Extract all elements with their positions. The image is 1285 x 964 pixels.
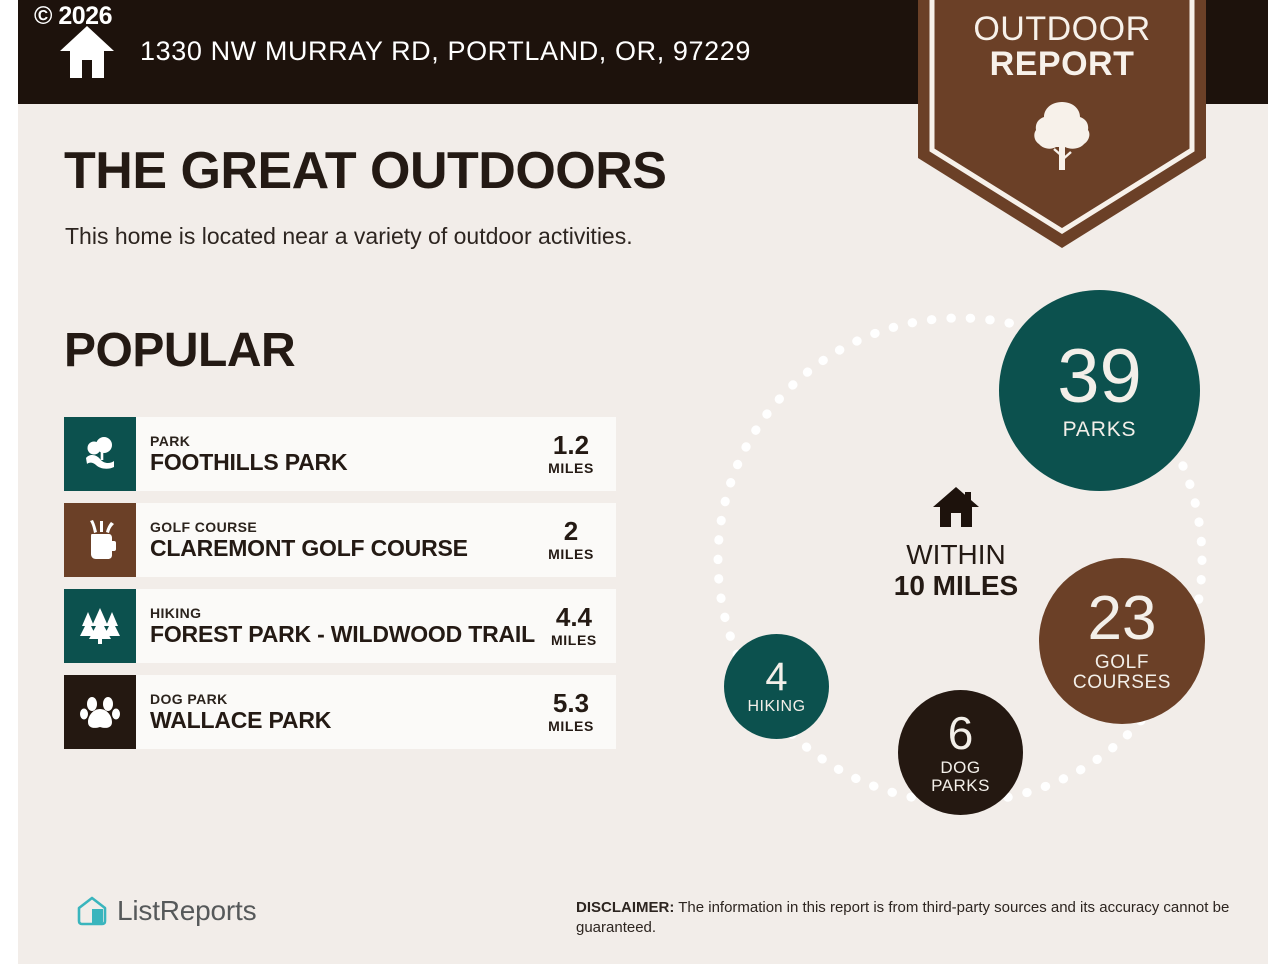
distance-unit: MILES	[535, 632, 613, 648]
list-item[interactable]: GOLF COURSE CLAREMONT GOLF COURSE 2 MILE…	[64, 503, 616, 577]
bubble-dog-parks[interactable]: 6 DOG PARKS	[898, 690, 1023, 815]
list-item-name: FOOTHILLS PARK	[150, 450, 532, 475]
property-address: 1330 NW MURRAY RD, PORTLAND, OR, 97229	[140, 36, 751, 67]
list-item[interactable]: HIKING FOREST PARK - WILDWOOD TRAIL 4.4 …	[64, 589, 616, 663]
list-item-icon-tile	[64, 417, 136, 491]
bubble-value: 6	[948, 711, 974, 756]
bubble-golf-courses[interactable]: 23 GOLF COURSES	[1039, 558, 1205, 724]
list-item-distance: 2 MILES	[532, 518, 616, 561]
distance-value: 1.2	[532, 432, 610, 459]
popular-list: PARK FOOTHILLS PARK 1.2 MILES	[64, 417, 616, 761]
bubble-value: 39	[1057, 340, 1142, 414]
park-trees-icon	[80, 434, 120, 474]
list-item-category: DOG PARK	[150, 691, 532, 709]
list-item-texts: PARK FOOTHILLS PARK	[150, 433, 532, 476]
listreports-logo-text: ListReports	[117, 895, 256, 927]
paw-print-icon	[80, 692, 120, 732]
bubble-label-line-2: COURSES	[1073, 672, 1171, 693]
list-item-texts: HIKING FOREST PARK - WILDWOOD TRAIL	[150, 605, 535, 648]
distance-unit: MILES	[532, 546, 610, 562]
bubble-hiking[interactable]: 4 HIKING	[724, 634, 829, 739]
list-item-body: DOG PARK WALLACE PARK 5.3 MILES	[136, 675, 616, 749]
list-item-name: WALLACE PARK	[150, 708, 532, 733]
bubble-label-line-1: GOLF	[1095, 652, 1149, 673]
golf-bag-icon	[80, 519, 120, 561]
center-label-line-2: 10 MILES	[871, 571, 1041, 602]
listreports-house-icon	[76, 895, 108, 927]
distance-value: 4.4	[535, 604, 613, 631]
bubble-label-line-2: PARKS	[931, 776, 990, 795]
page-subtitle: This home is located near a variety of o…	[65, 223, 633, 250]
list-item-body: HIKING FOREST PARK - WILDWOOD TRAIL 4.4 …	[136, 589, 619, 663]
list-item-category: HIKING	[150, 605, 535, 623]
bubble-label: GOLF COURSES	[1073, 653, 1171, 693]
list-item-icon-tile	[64, 589, 136, 663]
badge-title: OUTDOOR REPORT	[918, 12, 1206, 81]
bubble-label-line-1: DOG	[940, 758, 980, 777]
list-item-name: CLAREMONT GOLF COURSE	[150, 536, 532, 561]
distance-unit: MILES	[532, 718, 610, 734]
list-item-distance: 4.4 MILES	[535, 604, 619, 647]
badge-line-2: REPORT	[918, 47, 1206, 82]
home-icon	[932, 485, 980, 529]
center-label-line-1: WITHIN	[871, 540, 1041, 571]
pine-trees-icon	[78, 606, 122, 646]
page-title: THE GREAT OUTDOORS	[64, 145, 666, 197]
report-page: © 2026 1330 NW MURRAY RD, PORTLAND, OR, …	[18, 0, 1268, 964]
outdoor-report-badge: OUTDOOR REPORT	[918, 0, 1206, 248]
disclaimer-text: The information in this report is from t…	[576, 899, 1229, 936]
chart-center-label: WITHIN 10 MILES	[871, 485, 1041, 602]
list-item-body: GOLF COURSE CLAREMONT GOLF COURSE 2 MILE…	[136, 503, 616, 577]
list-item-body: PARK FOOTHILLS PARK 1.2 MILES	[136, 417, 616, 491]
list-item-distance: 1.2 MILES	[532, 432, 616, 475]
bubble-parks[interactable]: 39 PARKS	[999, 290, 1200, 491]
section-heading-popular: POPULAR	[64, 327, 295, 375]
bubble-label: PARKS	[1063, 419, 1137, 441]
distance-value: 2	[532, 518, 610, 545]
list-item-icon-tile	[64, 503, 136, 577]
badge-line-1: OUTDOOR	[918, 12, 1206, 47]
distance-value: 5.3	[532, 690, 610, 717]
home-icon	[58, 24, 116, 80]
disclaimer: DISCLAIMER: The information in this repo…	[576, 898, 1231, 938]
list-item-category: GOLF COURSE	[150, 519, 532, 537]
distance-unit: MILES	[532, 460, 610, 476]
disclaimer-label: DISCLAIMER:	[576, 899, 674, 916]
bubble-label: DOG PARKS	[931, 759, 990, 795]
bubble-label: HIKING	[747, 699, 805, 716]
list-item-distance: 5.3 MILES	[532, 690, 616, 733]
list-item[interactable]: DOG PARK WALLACE PARK 5.3 MILES	[64, 675, 616, 749]
tree-icon	[1031, 100, 1093, 172]
bubble-value: 23	[1088, 589, 1157, 650]
list-item-icon-tile	[64, 675, 136, 749]
list-item-texts: GOLF COURSE CLAREMONT GOLF COURSE	[150, 519, 532, 562]
listreports-logo[interactable]: ListReports	[76, 895, 256, 927]
list-item-texts: DOG PARK WALLACE PARK	[150, 691, 532, 734]
list-item[interactable]: PARK FOOTHILLS PARK 1.2 MILES	[64, 417, 616, 491]
within-10-miles-chart: 39 PARKS 23 GOLF COURSES 6 DOG PARKS 4 H…	[658, 270, 1248, 850]
list-item-category: PARK	[150, 433, 532, 451]
bubble-value: 4	[765, 658, 787, 697]
list-item-name: FOREST PARK - WILDWOOD TRAIL	[150, 622, 535, 647]
